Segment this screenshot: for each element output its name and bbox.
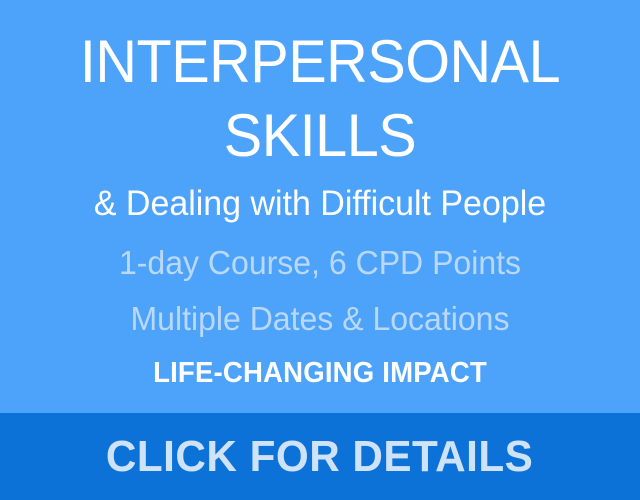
- banner-tagline: LIFE-CHANGING IMPACT: [16, 354, 624, 392]
- banner-detail-dates-locations: Multiple Dates & Locations: [10, 298, 631, 340]
- click-for-details-button[interactable]: CLICK FOR DETAILS: [0, 413, 640, 500]
- banner-subheading: & Dealing with Difficult People: [10, 182, 631, 226]
- banner-detail-course-duration: 1-day Course, 6 CPD Points: [10, 242, 631, 284]
- course-advertisement-banner[interactable]: INTERPERSONAL SKILLS & Dealing with Diff…: [0, 0, 640, 500]
- banner-copy-block: INTERPERSONAL SKILLS & Dealing with Diff…: [0, 0, 640, 413]
- headline-line-1: INTERPERSONAL: [13, 24, 627, 100]
- cta-label: CLICK FOR DETAILS: [106, 432, 533, 482]
- headline-line-2: SKILLS: [13, 98, 627, 174]
